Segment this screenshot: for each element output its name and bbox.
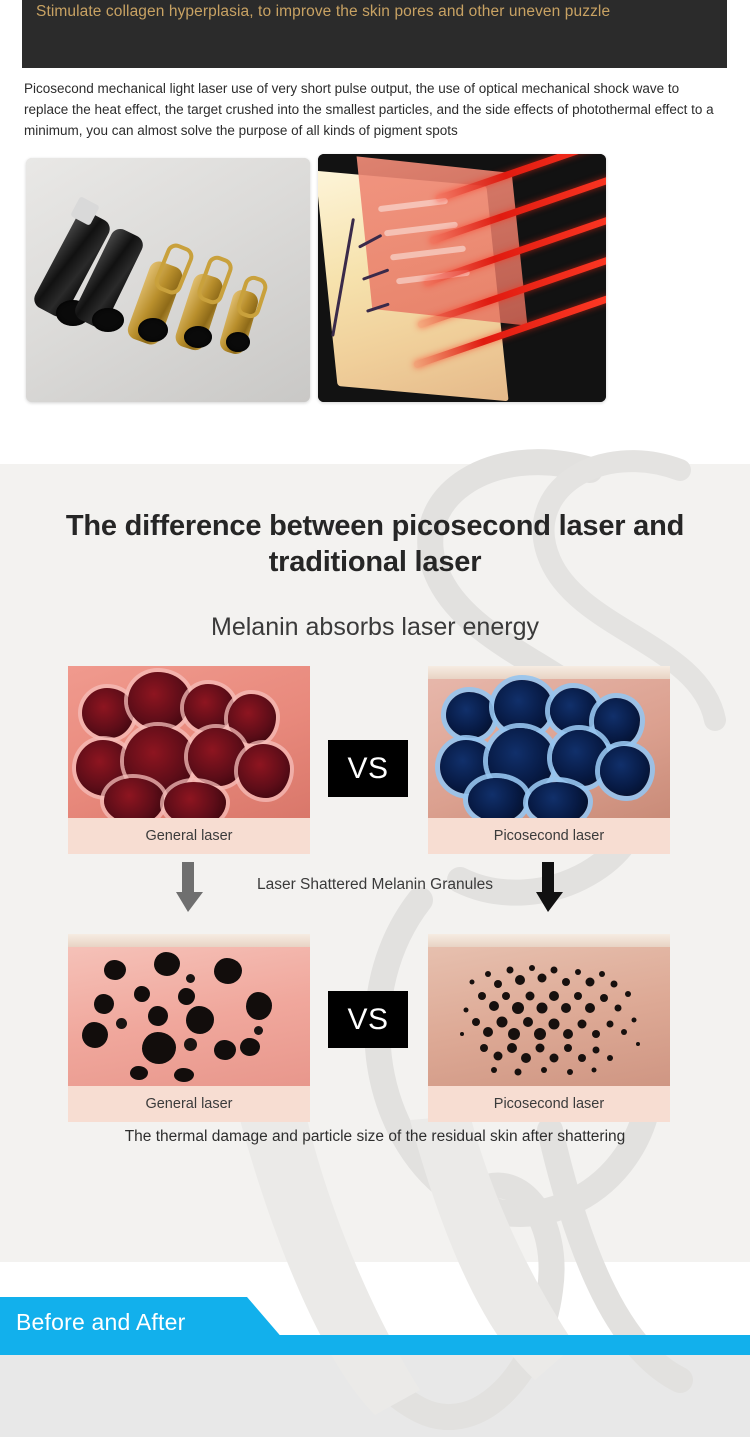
product-detail-page: Using pulse of a second and the laser en…	[0, 0, 750, 1437]
intro-paragraph: Picosecond mechanical light laser use of…	[24, 78, 726, 141]
cell-caption: General laser	[68, 1086, 310, 1122]
cell-general-laser-residual: General laser	[68, 934, 310, 1122]
vs-badge-bottom: VS	[328, 991, 408, 1048]
picosecond-laser-residual-image	[428, 934, 670, 1086]
callout-line-2: Stimulate collagen hyperplasia, to impro…	[36, 0, 713, 24]
cell-picosecond-laser-melanin: Picosecond laser	[428, 666, 670, 854]
laser-handpiece-tips-photo	[26, 158, 310, 402]
cell-picosecond-laser-residual: Picosecond laser	[428, 934, 670, 1122]
middle-caption: Laser Shattered Melanin Granules	[0, 876, 750, 894]
vs-badge-top: VS	[328, 740, 408, 797]
cell-caption: General laser	[68, 818, 310, 854]
banner-label: Before and After	[16, 1297, 185, 1347]
cell-caption: Picosecond laser	[428, 818, 670, 854]
page-title: The difference between picosecond laser …	[0, 508, 750, 580]
lower-white-strip	[0, 1262, 750, 1297]
before-after-banner: Before and After	[0, 1297, 750, 1355]
footer-gray-area	[0, 1355, 750, 1437]
picosecond-laser-melanin-image	[428, 666, 670, 818]
cell-general-laser-melanin: General laser	[68, 666, 310, 854]
general-laser-residual-image	[68, 934, 310, 1086]
section-subtitle: Melanin absorbs laser energy	[0, 610, 750, 644]
top-highlight-callout: Using pulse of a second and the laser en…	[22, 0, 727, 68]
skin-laser-beams-photo	[318, 154, 606, 402]
bottom-caption: The thermal damage and particle size of …	[0, 1128, 750, 1146]
cell-caption: Picosecond laser	[428, 1086, 670, 1122]
general-laser-melanin-image	[68, 666, 310, 818]
